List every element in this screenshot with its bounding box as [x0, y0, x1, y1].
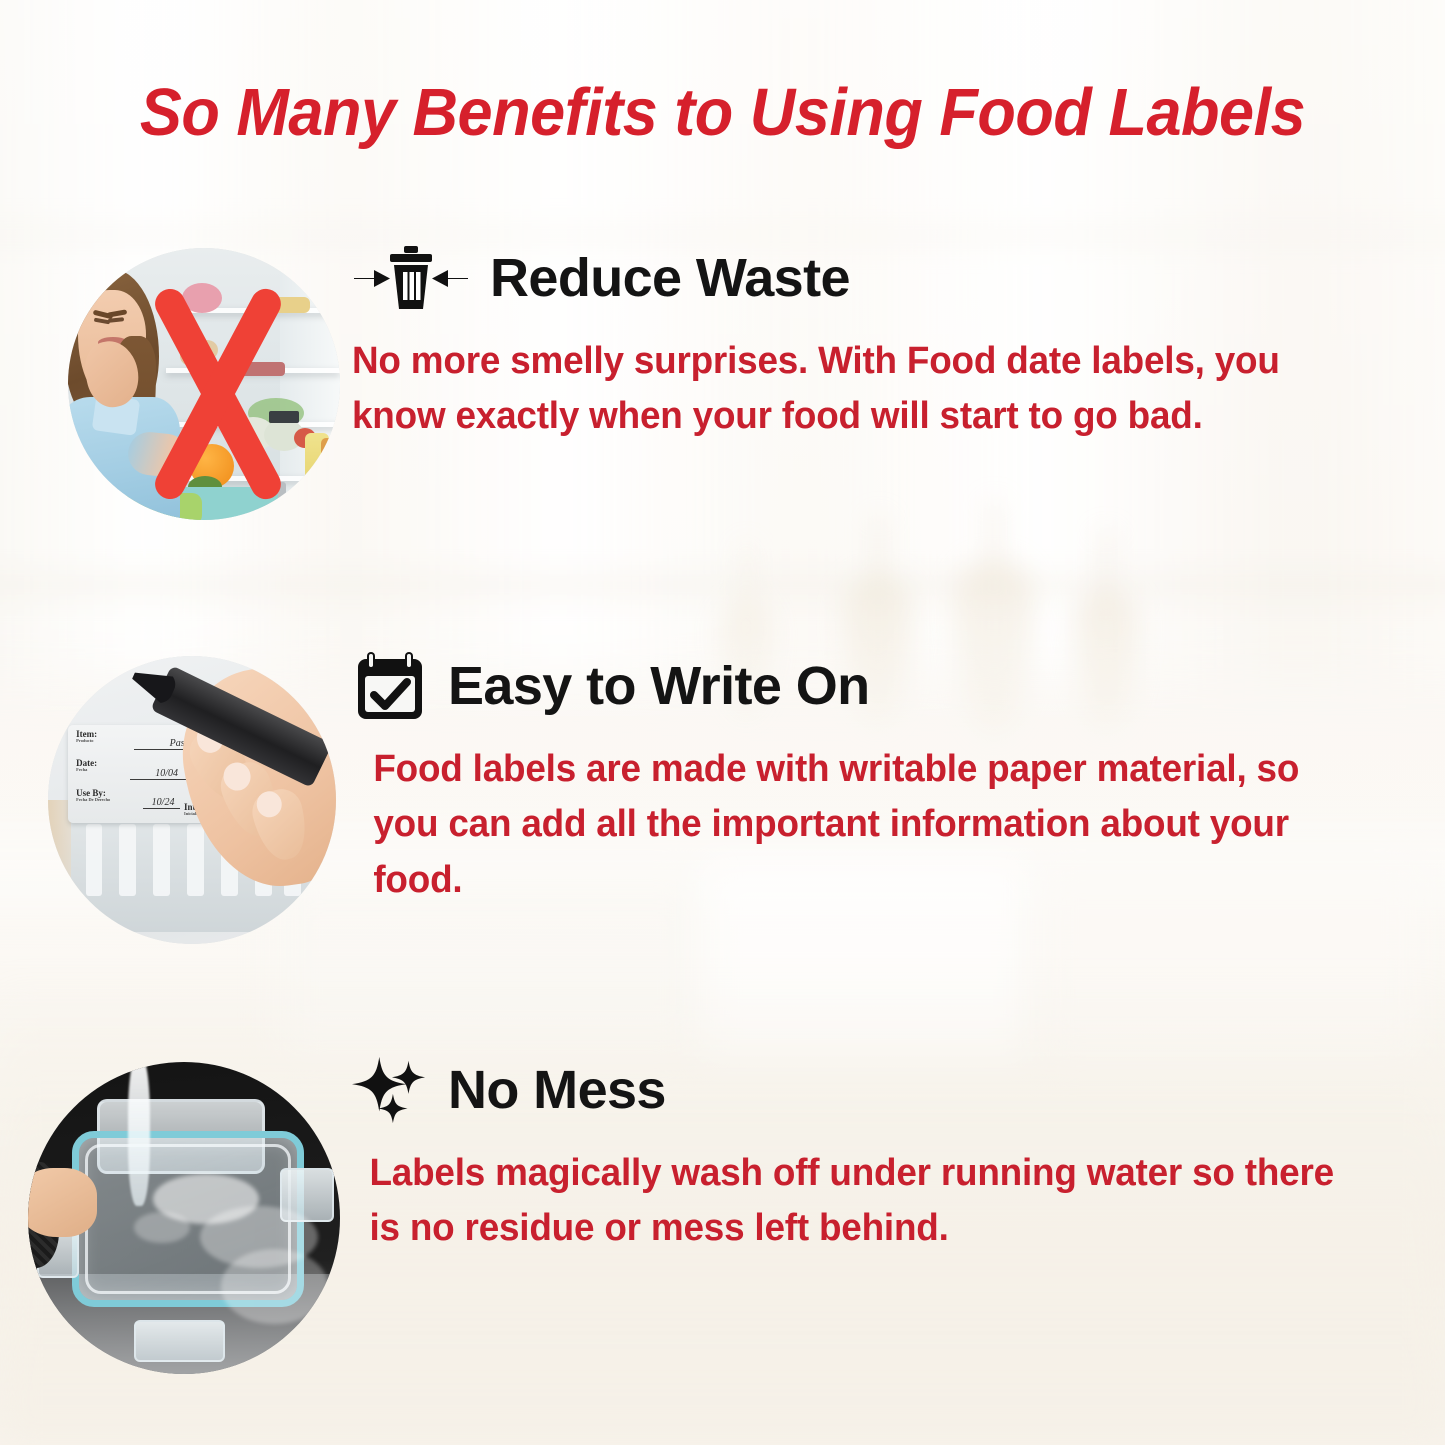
benefit-body: Labels magically wash off under running …	[352, 1146, 1341, 1257]
benefit-heading: No Mess	[448, 1063, 666, 1117]
benefit-heading: Easy to Write On	[448, 659, 870, 713]
label-field-subname: Fecha De Derecho	[76, 798, 110, 802]
running-water-stream	[128, 1062, 150, 1206]
trash-reduce-icon	[352, 240, 470, 316]
benefit-copy: Reduce Waste No more smelly surprises. W…	[352, 240, 1410, 445]
label-field-subname: Producto	[76, 739, 97, 743]
sparkles-icon	[352, 1052, 428, 1128]
red-x-mark-overlay	[68, 248, 340, 520]
water-splash	[134, 1212, 190, 1243]
benefit-heading-row: Reduce Waste	[352, 240, 1410, 316]
label-field-value: 10/24	[152, 797, 175, 808]
hand-writing-on-food-label-photo: Item: Producto Pasta Date: Fecha	[48, 656, 336, 944]
woman-smelling-spoiled-food-in-fridge-photo	[68, 248, 340, 520]
calendar-check-icon	[352, 648, 428, 724]
benefit-heading-row: Easy to Write On	[352, 648, 1392, 724]
benefit-heading-row: No Mess	[352, 1052, 1372, 1128]
water-splash	[221, 1249, 327, 1324]
label-field-value: 10/04	[155, 768, 178, 779]
benefit-copy: Easy to Write On Food labels are made wi…	[352, 648, 1392, 908]
hand-holding-container	[28, 1168, 97, 1237]
benefit-heading: Reduce Waste	[490, 251, 850, 305]
benefit-body: No more smelly surprises. With Food date…	[352, 334, 1378, 445]
container-rinsed-under-running-water-photo	[28, 1062, 340, 1374]
label-field-subname: Fecha	[76, 768, 97, 772]
benefit-copy: No Mess Labels magically wash off under …	[352, 1052, 1372, 1257]
benefit-body: Food labels are made with writable paper…	[352, 742, 1361, 908]
page-title: So Many Benefits to Using Food Labels	[43, 78, 1401, 148]
infographic-page: So Many Benefits to Using Food Labels	[0, 0, 1445, 1445]
container-clip	[134, 1320, 225, 1361]
